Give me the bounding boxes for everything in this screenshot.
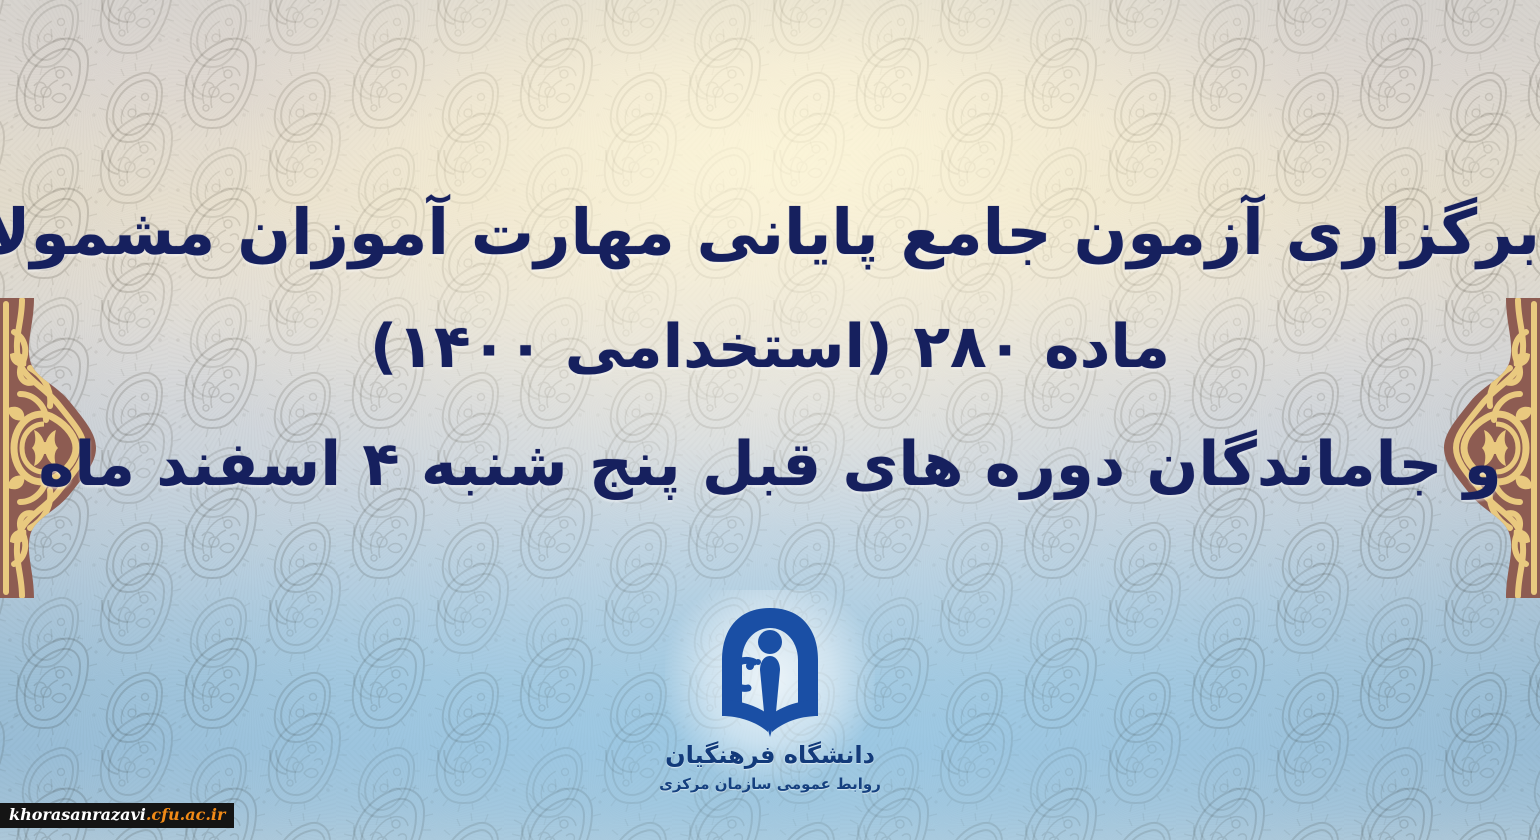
watermark-site-name: khorasanrazavi bbox=[9, 805, 146, 824]
islamic-corner-ornament-left-icon bbox=[0, 298, 108, 598]
logo-title: دانشگاه فرهنگیان bbox=[645, 741, 895, 769]
logo-subtitle: روابط عمومی سازمان مرکزی bbox=[645, 775, 895, 793]
farhangian-university-logo-icon bbox=[710, 604, 830, 739]
site-watermark: khorasanrazavi.cfu.ac.ir bbox=[0, 803, 234, 828]
announcement-banner: برگزاری آزمون جامع پایانی مهارت آموزان م… bbox=[0, 0, 1540, 840]
organization-logo: دانشگاه فرهنگیان روابط عمومی سازمان مرکز… bbox=[645, 604, 895, 793]
watermark-domain: .cfu.ac.ir bbox=[146, 805, 226, 824]
islamic-corner-ornament-right-icon bbox=[1432, 298, 1540, 598]
